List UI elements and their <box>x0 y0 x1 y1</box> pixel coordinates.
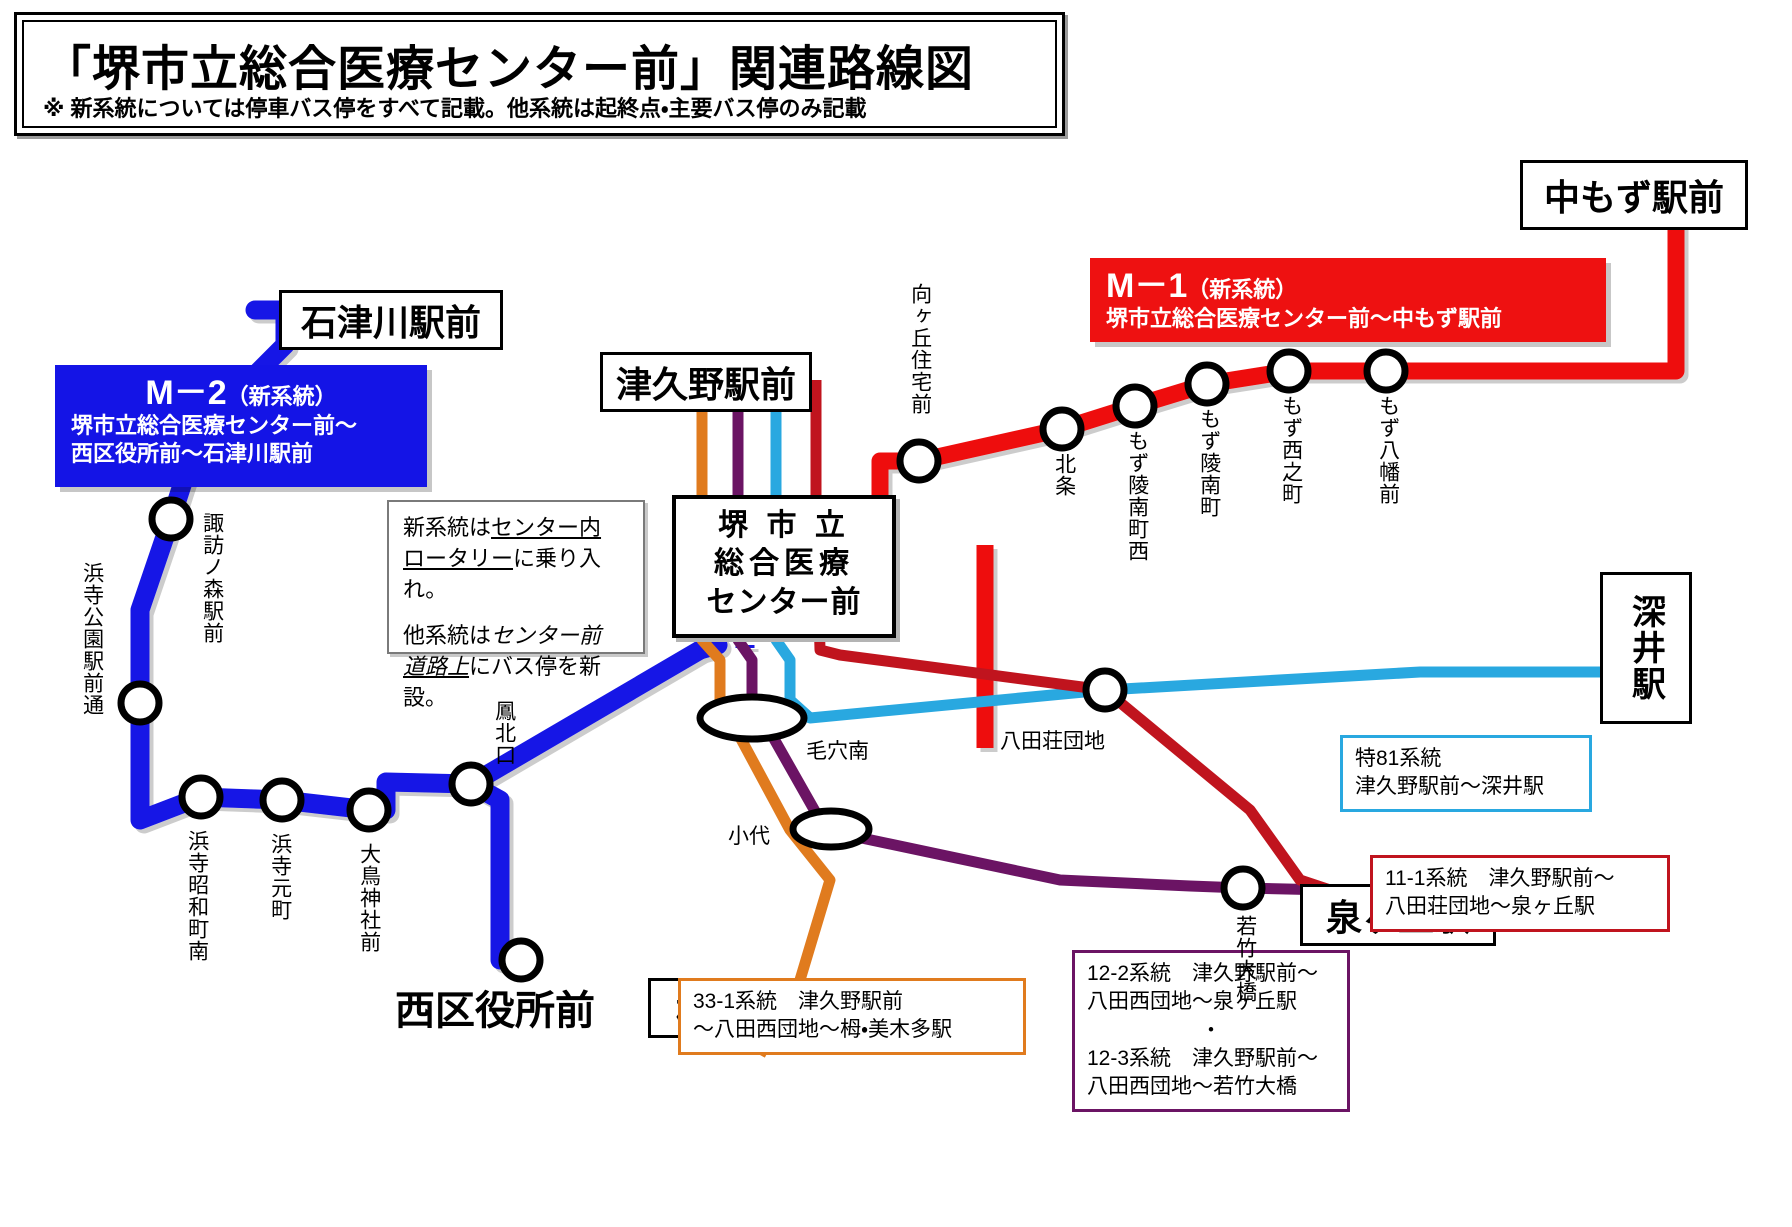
banner-m2-code: M－2（新系統） <box>71 374 411 412</box>
hub-line-3: センター前 <box>686 584 882 622</box>
legend-toku81-line-2: 津久野駅前～深井駅 <box>1355 773 1577 801</box>
note-p1-c: ロータリー <box>403 546 513 571</box>
hub-line-2: 総合医療 <box>686 545 882 583</box>
banner-m2-code-text: M－2 <box>145 374 226 412</box>
map-title-frame: 「堺市立総合医療センター前」関連路線図 ※ 新系統については停車バス停をすべて記… <box>14 12 1065 136</box>
legend-12-2-12-3[interactable]: 12-2系統 津久野駅前～ 八田西団地～泉ヶ丘駅 ・ 12-3系統 津久野駅前～… <box>1072 950 1350 1112</box>
terminal-nakamozu-label: 中もず駅前 <box>1544 169 1724 221</box>
stop-marker <box>502 941 540 979</box>
banner-m1-code-sub: （新系統） <box>1187 277 1297 302</box>
note-box: 新系統はセンター内 ロータリーに乗り入れ。 他系統はセンター前 道路上にバス停を… <box>387 500 645 654</box>
stop-marker <box>1224 869 1262 907</box>
note-p2-a: 他系統は <box>403 623 491 648</box>
stop-label-hattasho-danchi: 八田荘団地 <box>1000 725 1105 755</box>
stop-marker <box>121 684 159 722</box>
stop-marker <box>1086 671 1124 709</box>
note-p1-a: 新系統は <box>403 515 491 540</box>
stop-label-hojo: 北条 <box>1052 453 1075 523</box>
legend-33-1-line-2: ～八田西団地～栂・美木多駅 <box>693 1016 1011 1044</box>
legend-11-1[interactable]: 11-1系統 津久野駅前～ 八田荘団地～泉ヶ丘駅 <box>1370 855 1670 932</box>
legend-12-2-line-1: 12-2系統 津久野駅前～ <box>1087 960 1335 988</box>
hub-line-1: 堺 市 立 <box>686 507 882 545</box>
terminal-fukai[interactable]: 深井駅 <box>1600 572 1692 724</box>
stop-marker <box>1188 365 1226 403</box>
map-subtitle: ※ 新系統については停車バス停をすべて記載。他系統は起終点・主要バス停のみ記載 <box>43 91 866 123</box>
stop-marker <box>152 500 190 538</box>
stop-label-hamadera-motomachi: 浜寺元町 <box>268 833 291 953</box>
note-paragraph-2: 他系統はセンター前 道路上にバス停を新設。 <box>403 620 629 714</box>
legend-11-1-line-2: 八田荘団地～泉ヶ丘駅 <box>1385 893 1655 921</box>
stop-label-otori-kitaguchi: 鳳北口 <box>492 700 515 785</box>
banner-m1-code: M－1（新系統） <box>1106 267 1590 305</box>
stop-label-mozu-nishinocho: もず西之町 <box>1279 395 1302 535</box>
hub-station-saikai-medical-center[interactable]: 堺 市 立 総合医療 センター前 <box>672 495 896 638</box>
terminal-tsukuno[interactable]: 津久野駅前 <box>600 352 812 412</box>
stop-label-otori-jinjamae: 大鳥神社前 <box>357 843 380 993</box>
note-p2-c: 道路上 <box>403 654 469 679</box>
legend-11-1-line-1: 11-1系統 津久野駅前～ <box>1385 865 1655 893</box>
terminal-ishizugawa-label: 石津川駅前 <box>301 294 481 346</box>
stop-label-wakatake-ohashi: 若竹大橋 <box>1233 915 1256 1020</box>
stop-label-mozu-ryonancho: もず陵南町 <box>1197 408 1220 548</box>
legend-toku81[interactable]: 特81系統 津久野駅前～深井駅 <box>1340 735 1592 812</box>
route-map-canvas: 「堺市立総合医療センター前」関連路線図 ※ 新系統については停車バス停をすべて記… <box>0 0 1792 1227</box>
terminal-nakamozu[interactable]: 中もず駅前 <box>1520 160 1748 230</box>
stop-marker <box>452 765 490 803</box>
note-p1-b: センター内 <box>491 515 601 540</box>
note-paragraph-1: 新系統はセンター内 ロータリーに乗り入れ。 <box>403 512 629 606</box>
banner-m2-desc-2: 西区役所前～石津川駅前 <box>71 440 411 468</box>
stop-label-kena-minami: 毛穴南 <box>806 735 869 765</box>
legend-33-1[interactable]: 33-1系統 津久野駅前 ～八田西団地～栂・美木多駅 <box>678 978 1026 1055</box>
stop-label-mukaigaoka-jutakumae: 向ヶ丘住宅前 <box>908 283 931 458</box>
stop-marker-rotary <box>793 811 869 847</box>
legend-toku81-line-1: 特81系統 <box>1355 745 1577 773</box>
stop-marker <box>1270 352 1308 390</box>
terminal-ishizugawa[interactable]: 石津川駅前 <box>279 290 503 350</box>
terminal-nishikuyakusho-label: 西区役所前 <box>395 978 595 1036</box>
note-p2-b: センター前 <box>491 623 601 648</box>
stop-marker <box>182 778 220 816</box>
stop-label-hamadera-showacho-minami: 浜寺昭和町南 <box>185 830 208 1000</box>
banner-m2[interactable]: M－2（新系統） 堺市立総合医療センター前～ 西区役所前～石津川駅前 <box>55 365 427 487</box>
stop-marker-rotary <box>700 697 804 739</box>
legend-12-separator: ・ <box>1087 1017 1335 1045</box>
legend-12-3-line-2: 八田西団地～若竹大橋 <box>1087 1073 1335 1101</box>
banner-m2-code-sub: （新系統） <box>227 384 337 409</box>
stop-marker <box>1043 410 1081 448</box>
stop-marker <box>350 791 388 829</box>
legend-33-1-line-1: 33-1系統 津久野駅前 <box>693 988 1011 1016</box>
map-title: 「堺市立総合医療センター前」関連路線図 <box>43 29 974 99</box>
stop-marker <box>263 781 301 819</box>
stop-label-suwanomori-ekimae: 諏訪ノ森駅前 <box>200 512 223 682</box>
banner-m2-desc-1: 堺市立総合医療センター前～ <box>71 412 411 440</box>
terminal-fukai-label: 深井駅 <box>1622 594 1671 702</box>
stop-label-koshiro: 小代 <box>728 820 770 850</box>
stop-label-mozu-hachimanmae: もず八幡前 <box>1376 395 1399 535</box>
stop-label-hamadera-koen-ekimae-dori: 浜寺公園駅前通 <box>80 562 103 762</box>
banner-m1-code-text: M－1 <box>1106 267 1187 305</box>
stop-marker <box>1367 352 1405 390</box>
banner-m1[interactable]: M－1（新系統） 堺市立総合医療センター前～中もず駅前 <box>1090 258 1606 342</box>
stop-label-mozu-ryonancho-nishi: もず陵南町西 <box>1125 430 1148 595</box>
terminal-tsukuno-label: 津久野駅前 <box>616 356 796 408</box>
legend-12-2-line-2: 八田西団地～泉ヶ丘駅 <box>1087 988 1335 1016</box>
stop-marker <box>1116 387 1154 425</box>
legend-12-3-line-1: 12-3系統 津久野駅前～ <box>1087 1045 1335 1073</box>
banner-m1-desc: 堺市立総合医療センター前～中もず駅前 <box>1106 305 1590 333</box>
